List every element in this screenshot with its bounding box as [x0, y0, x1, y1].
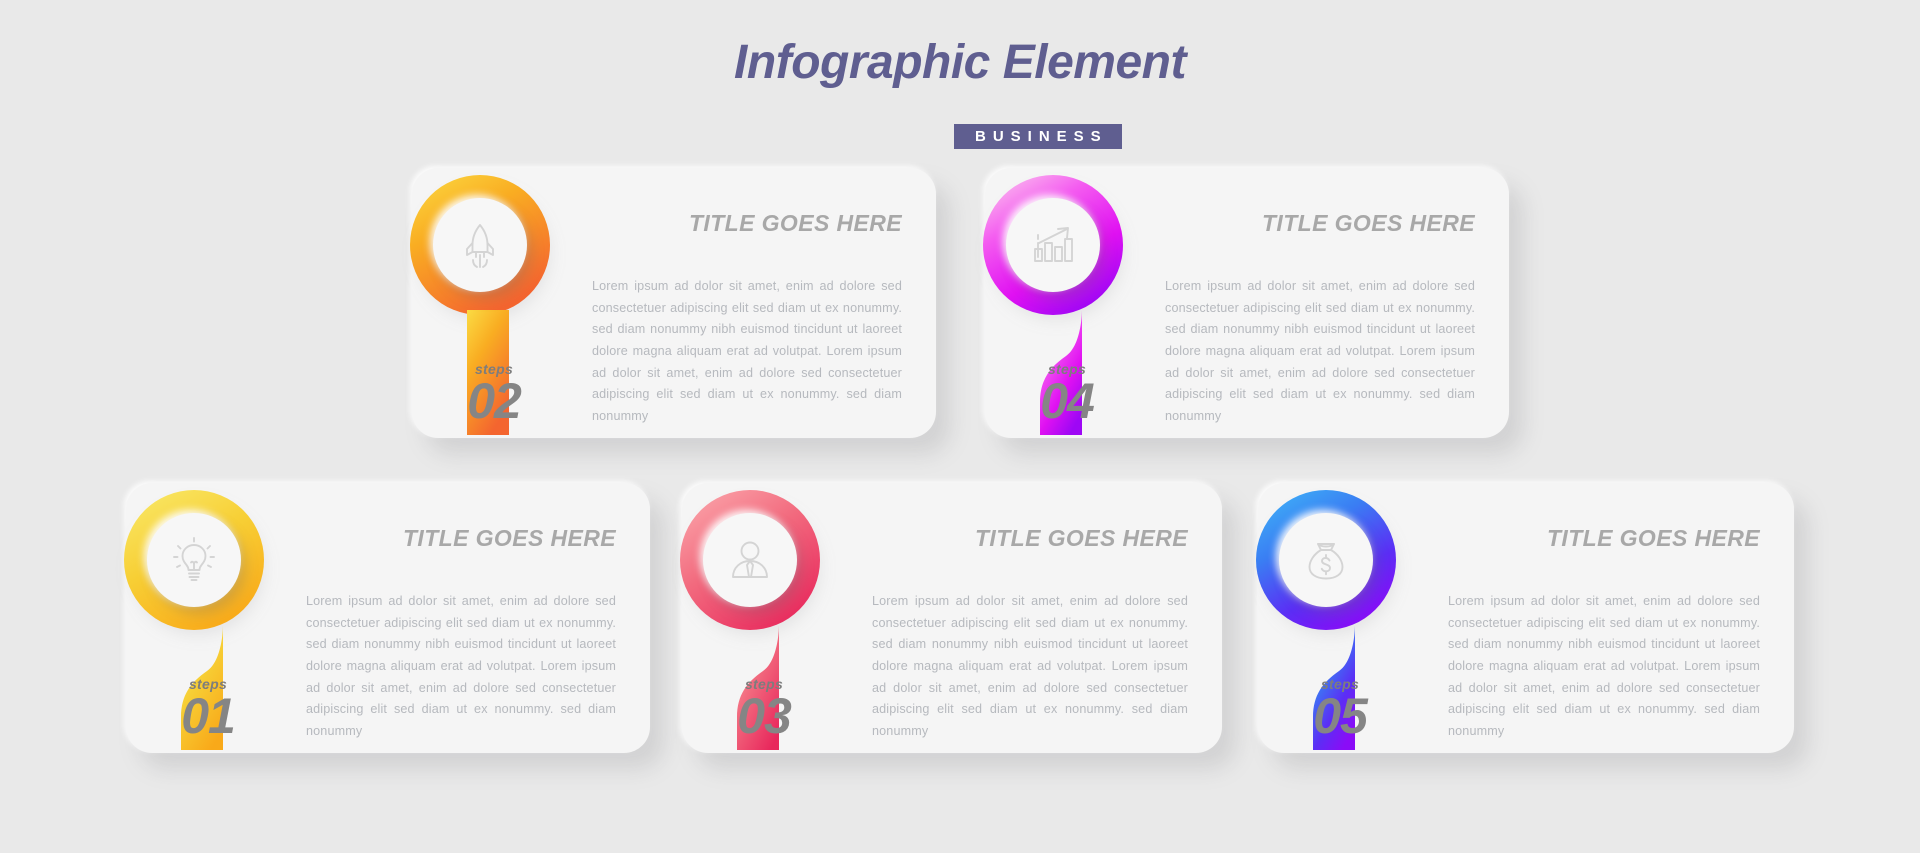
person-icon	[703, 513, 797, 607]
page-title: Infographic Element	[734, 38, 1186, 88]
card-title: TITLE GOES HERE	[689, 210, 902, 237]
card-title: TITLE GOES HERE	[975, 525, 1188, 552]
steps-indicator: steps 03	[716, 677, 812, 742]
steps-indicator: steps 05	[1292, 677, 1388, 742]
steps-indicator: steps 01	[160, 677, 256, 742]
lightbulb-icon	[147, 513, 241, 607]
steps-number: 04	[1019, 376, 1115, 427]
steps-indicator: steps 04	[1019, 362, 1115, 427]
card-title: TITLE GOES HERE	[1547, 525, 1760, 552]
bar-chart-growth-icon	[1006, 198, 1100, 292]
card-title: TITLE GOES HERE	[403, 525, 616, 552]
steps-number: 02	[446, 376, 542, 427]
steps-number: 03	[716, 691, 812, 742]
card-body-text: Lorem ipsum ad dolor sit amet, enim ad d…	[872, 591, 1188, 743]
steps-number: 01	[160, 691, 256, 742]
card-body-text: Lorem ipsum ad dolor sit amet, enim ad d…	[1448, 591, 1760, 743]
card-body-text: Lorem ipsum ad dolor sit amet, enim ad d…	[306, 591, 616, 743]
business-badge: BUSINESS	[954, 124, 1122, 149]
rocket-icon	[433, 198, 527, 292]
money-bag-icon	[1279, 513, 1373, 607]
steps-number: 05	[1292, 691, 1388, 742]
page-header: Infographic Element BUSINESS	[0, 38, 1920, 88]
card-title: TITLE GOES HERE	[1262, 210, 1475, 237]
card-body-text: Lorem ipsum ad dolor sit amet, enim ad d…	[1165, 276, 1475, 428]
steps-indicator: steps 02	[446, 362, 542, 427]
card-body-text: Lorem ipsum ad dolor sit amet, enim ad d…	[592, 276, 902, 428]
